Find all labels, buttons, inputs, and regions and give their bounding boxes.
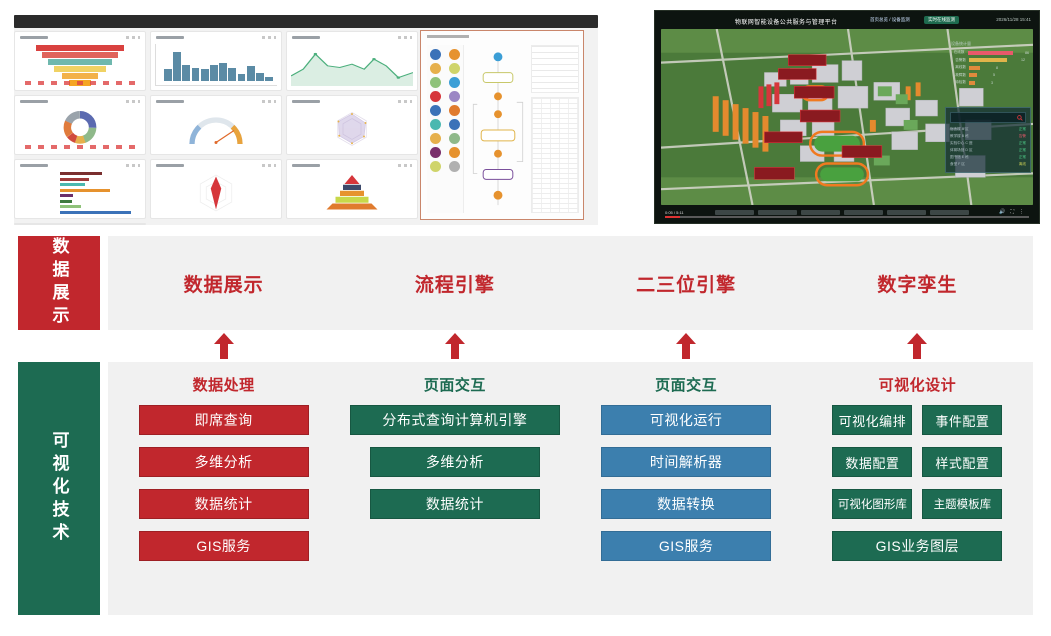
card-menu-icon[interactable]	[126, 164, 140, 167]
device-status: 正常	[1019, 127, 1026, 132]
card-menu-icon[interactable]	[126, 100, 140, 103]
tech-box-theme-template-library[interactable]: 主题模板库	[922, 489, 1002, 519]
device-status: 告警	[1019, 134, 1026, 139]
bar-chart	[155, 44, 277, 86]
device-search-input[interactable]	[950, 112, 1026, 123]
card-title-bar	[292, 36, 320, 39]
video-controls[interactable]: 0:05 / 5:11 🔊⛶⋮	[665, 207, 1029, 219]
flow-engine-designer[interactable]	[420, 30, 584, 220]
tech-column-page-interaction-b: 页面交互 可视化运行 时间解析器 数据转换 GIS服务	[571, 362, 802, 615]
stat-value: 8	[983, 66, 998, 70]
card-title-bar	[20, 36, 48, 39]
chart-card-area[interactable]	[286, 31, 418, 91]
tech-box-gis-service[interactable]: GIS服务	[601, 531, 771, 561]
horizontal-bar-chart	[19, 172, 141, 214]
stat-value: 5	[980, 73, 995, 77]
device-name: 宿舍楼 A 区	[950, 127, 969, 132]
flow-diagram	[467, 45, 529, 213]
tech-box-distributed-query-engine[interactable]: 分布式查询计算机引擎	[350, 405, 560, 435]
chapter-chip[interactable]	[844, 210, 883, 215]
chart-card-radar-filled[interactable]	[150, 159, 282, 219]
funnel-legend	[25, 81, 135, 85]
band-column-2d3d-engine: 二三位引擎	[571, 236, 802, 330]
chart-card-donut[interactable]	[14, 95, 146, 155]
architecture-diagram: 数据展示 可视化技术 数据展示 流程引擎 二三位引擎 数字孪生	[0, 236, 1051, 636]
chapter-chip[interactable]	[801, 210, 840, 215]
tech-box-multidim-analysis[interactable]: 多维分析	[370, 447, 540, 477]
stat-label: 离线数	[951, 65, 966, 70]
stat-value: 86	[1016, 51, 1030, 55]
card-title-bar	[292, 100, 320, 103]
rail-visualization-tech: 可视化技术	[18, 362, 100, 615]
video-progress-bar[interactable]	[665, 216, 1029, 218]
twin-breadcrumb[interactable]: 首页总览 / 设备监测	[870, 17, 910, 23]
up-arrow-icon	[214, 333, 234, 359]
tech-box-visual-runtime[interactable]: 可视化运行	[601, 405, 771, 435]
tech-box-data-statistics[interactable]: 数据统计	[139, 489, 309, 519]
column-title: 流程引擎	[415, 270, 495, 297]
column-title: 数字孪生	[877, 270, 957, 297]
column-title: 数据展示	[184, 270, 264, 297]
stat-label: 待检数	[951, 80, 966, 85]
dashboard-chart-grid	[14, 31, 418, 225]
tech-box-data-statistics[interactable]: 数据统计	[370, 489, 540, 519]
band-column-flow-engine: 流程引擎	[339, 236, 570, 330]
tech-box-visual-graphics-library[interactable]: 可视化图形库	[832, 489, 912, 519]
chapter-chip[interactable]	[887, 210, 926, 215]
rail-label: 数据展示	[51, 237, 68, 329]
card-menu-icon[interactable]	[398, 164, 412, 167]
device-name: 图书馆 E 栋	[950, 155, 969, 160]
chart-card-funnel[interactable]	[14, 31, 146, 91]
chapter-chip[interactable]	[758, 210, 797, 215]
property-table[interactable]	[531, 97, 579, 213]
device-list-item[interactable]: 宿舍楼 A 区 正常	[950, 126, 1026, 133]
tech-box-gis-service[interactable]: GIS服务	[139, 531, 309, 561]
arrow-cell	[571, 332, 802, 360]
tech-box-gis-business-layer[interactable]: GIS业务图层	[832, 531, 1002, 561]
column-title: 二三位引擎	[636, 270, 736, 297]
chapter-chip[interactable]	[715, 210, 754, 215]
video-timecode: 0:05 / 5:11	[665, 210, 684, 215]
chapter-chip[interactable]	[930, 210, 969, 215]
twin-clock: 2026/11/28 15:41	[996, 17, 1031, 22]
card-title-bar	[156, 36, 184, 39]
dashboard-titlebar	[14, 15, 598, 28]
device-stat-row: 离线数 8	[951, 65, 1029, 70]
device-list-panel[interactable]: 宿舍楼 A 区 正常 教学楼 B 栋 告警 实验中心 C 座 正常 体育场馆 D…	[945, 107, 1031, 173]
flow-canvas[interactable]	[467, 45, 529, 213]
twin-status-badge: 实时在线监测	[924, 16, 959, 24]
pyramid-chart	[291, 172, 413, 214]
card-title-bar	[156, 164, 184, 167]
chart-card-bar[interactable]	[150, 31, 282, 91]
radar-chart	[291, 108, 413, 150]
device-name: 体育场馆 D 区	[950, 148, 973, 153]
column-subtitle: 页面交互	[655, 374, 717, 395]
card-menu-icon[interactable]	[398, 36, 412, 39]
twin-title: 物联网智能设备公共服务与管理平台	[735, 17, 837, 26]
gauge-chart	[155, 108, 277, 150]
arrow-row	[108, 332, 1033, 360]
device-list-item[interactable]: 食堂 F 区 离线	[950, 161, 1026, 168]
column-subtitle: 数据处理	[193, 374, 255, 395]
up-arrow-icon	[676, 333, 696, 359]
device-status: 离线	[1019, 162, 1026, 167]
card-title-bar	[20, 100, 48, 103]
presentation-band: 数据展示 流程引擎 二三位引擎 数字孪生	[108, 236, 1033, 330]
device-status: 正常	[1019, 148, 1026, 153]
property-form[interactable]	[531, 45, 579, 93]
tech-box-data-config[interactable]: 数据配置	[832, 447, 912, 477]
stat-value: 12	[1010, 58, 1025, 62]
stat-label: 告警数	[951, 58, 966, 63]
device-stats-panel: 设备统计量 在线数 86 告警数 12 离线数 8 故障数 5	[951, 41, 1029, 88]
tech-box-event-config[interactable]: 事件配置	[922, 405, 1002, 435]
stat-value: 3	[978, 81, 993, 85]
tech-box-style-config[interactable]: 样式配置	[922, 447, 1002, 477]
tech-box-pair: 数据配置 样式配置	[832, 447, 1002, 477]
band-column-data-display: 数据展示	[108, 236, 339, 330]
device-stat-row: 告警数 12	[951, 58, 1029, 63]
tech-box-visual-orchestration[interactable]: 可视化编排	[832, 405, 912, 435]
device-list-item[interactable]: 教学楼 B 栋 告警	[950, 133, 1026, 140]
band-column-digital-twin: 数字孪生	[802, 236, 1033, 330]
device-status: 正常	[1019, 141, 1026, 146]
column-subtitle: 页面交互	[424, 374, 486, 395]
node-palette[interactable]	[427, 45, 464, 213]
tech-box-data-transform[interactable]: 数据转换	[601, 489, 771, 519]
device-name: 教学楼 B 栋	[950, 134, 969, 139]
card-title-bar	[20, 164, 48, 167]
device-list-item[interactable]: 图书馆 E 栋 正常	[950, 154, 1026, 161]
arrow-cell	[108, 332, 339, 360]
donut-chart	[19, 108, 141, 150]
designer-title-bar	[427, 35, 469, 38]
device-name: 实验中心 C 座	[950, 141, 973, 146]
radar-chart-filled	[155, 172, 277, 214]
technology-band: 数据处理 即席查询 多维分析 数据统计 GIS服务 页面交互 分布式查询计算机引…	[108, 362, 1033, 615]
tech-box-multidim-analysis[interactable]: 多维分析	[139, 447, 309, 477]
stat-label: 在线数	[951, 50, 965, 55]
card-title-bar	[292, 164, 320, 167]
card-menu-icon[interactable]	[262, 100, 276, 103]
chart-card-hbar[interactable]	[14, 159, 146, 219]
area-chart	[291, 44, 413, 86]
video-chapter-chips[interactable]	[715, 210, 969, 215]
funnel-chart	[19, 44, 141, 86]
device-status: 正常	[1019, 155, 1026, 160]
video-icon-group[interactable]: 🔊⛶⋮	[999, 209, 1029, 215]
donut-legend	[25, 145, 135, 149]
card-menu-icon[interactable]	[126, 36, 140, 39]
showcase-area: 物联网智能设备公共服务与管理平台 首页总览 / 设备监测 实时在线监测 2026…	[0, 0, 1051, 232]
rail-label: 可视化技术	[51, 431, 68, 546]
device-list-item[interactable]: 实验中心 C 座 正常	[950, 140, 1026, 147]
chart-card-radar[interactable]	[286, 95, 418, 155]
card-title-bar	[156, 100, 184, 103]
digital-twin-video[interactable]: 物联网智能设备公共服务与管理平台 首页总览 / 设备监测 实时在线监测 2026…	[654, 10, 1040, 224]
arrow-cell	[339, 332, 570, 360]
card-menu-icon[interactable]	[398, 100, 412, 103]
chart-card-pyramid[interactable]	[286, 159, 418, 219]
tech-column-visual-design: 可视化设计 可视化编排 事件配置 数据配置 样式配置 可视化图形库 主题模板库 …	[802, 362, 1033, 615]
search-icon	[1017, 115, 1023, 121]
tech-box-time-parser[interactable]: 时间解析器	[601, 447, 771, 477]
card-menu-icon[interactable]	[262, 36, 276, 39]
column-subtitle: 可视化设计	[879, 374, 957, 395]
tech-column-page-interaction-a: 页面交互 分布式查询计算机引擎 多维分析 数据统计	[339, 362, 570, 615]
device-name: 食堂 F 区	[950, 162, 965, 167]
properties-panel[interactable]	[531, 45, 579, 213]
tech-box-ad-hoc-query[interactable]: 即席查询	[139, 405, 309, 435]
chart-card-multiarea[interactable]	[14, 223, 146, 225]
device-stats-heading: 设备统计量	[951, 41, 1029, 47]
chart-card-gauge[interactable]	[150, 95, 282, 155]
up-arrow-icon	[445, 333, 465, 359]
device-stat-row: 待检数 3	[951, 80, 1029, 85]
arrow-cell	[802, 332, 1033, 360]
device-stat-row: 在线数 86	[951, 50, 1029, 55]
device-stat-row: 故障数 5	[951, 73, 1029, 78]
stat-label: 故障数	[951, 73, 966, 78]
device-list-item[interactable]: 体育场馆 D 区 正常	[950, 147, 1026, 154]
up-arrow-icon	[907, 333, 927, 359]
card-menu-icon[interactable]	[262, 164, 276, 167]
tech-column-data-processing: 数据处理 即席查询 多维分析 数据统计 GIS服务	[108, 362, 339, 615]
rail-data-presentation: 数据展示	[18, 236, 100, 330]
tech-box-pair: 可视化编排 事件配置	[832, 405, 1002, 435]
tech-box-pair: 可视化图形库 主题模板库	[832, 489, 1002, 519]
